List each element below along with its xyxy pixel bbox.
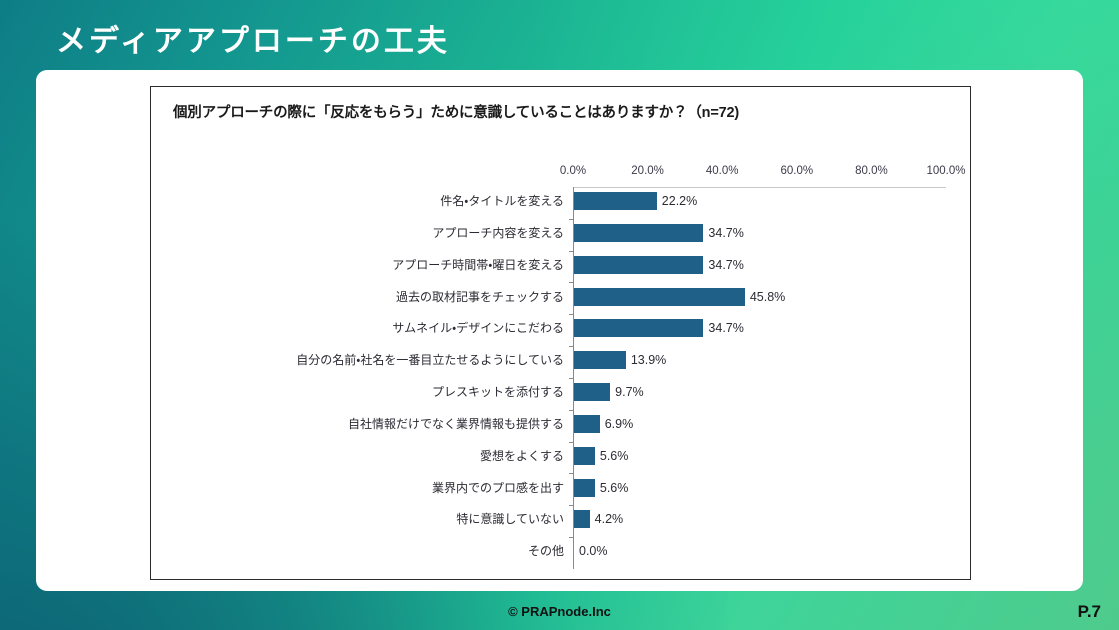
bar-value-label: 45.8% — [750, 288, 785, 306]
x-axis-tick-label: 100.0% — [926, 165, 965, 177]
category-label: 業界内でのプロ感を出す — [432, 478, 564, 498]
bar-row: 過去の取材記事をチェックする45.8% — [573, 283, 946, 315]
x-axis-tick-label: 40.0% — [706, 165, 739, 177]
category-label: アプローチ内容を変える — [432, 223, 564, 243]
category-label: 自社情報だけでなく業界情報も提供する — [348, 414, 564, 434]
bar-value-label: 34.7% — [708, 319, 743, 337]
bar — [574, 351, 626, 369]
bar-row: サムネイル・デザインにこだわる34.7% — [573, 314, 946, 346]
bar-row: その他0.0% — [573, 537, 946, 569]
bar-row: 愛想をよくする5.6% — [573, 442, 946, 474]
bar-row: 特に意識していない4.2% — [573, 505, 946, 537]
chart-container: 個別アプローチの際に「反応をもらう」ために意識していることはありますか？（n=7… — [150, 86, 971, 580]
bar-row: プレスキットを添付する9.7% — [573, 378, 946, 410]
bar — [574, 510, 590, 528]
bar-row: 業界内でのプロ感を出す5.6% — [573, 474, 946, 506]
x-axis-tick-label: 0.0% — [560, 165, 586, 177]
page-title: メディアアプローチの工夫 — [56, 16, 450, 60]
category-label: 自分の名前・社名を一番目立たせるようにしている — [296, 350, 564, 370]
bar — [574, 319, 703, 337]
bar-value-label: 9.7% — [615, 383, 644, 401]
bar — [574, 447, 595, 465]
bar-value-label: 5.6% — [600, 447, 629, 465]
bar-value-label: 13.9% — [631, 351, 666, 369]
category-label: 過去の取材記事をチェックする — [396, 287, 564, 307]
bar-value-label: 5.6% — [600, 479, 629, 497]
bar — [574, 383, 610, 401]
bar-rows: 件名・タイトルを変える22.2%アプローチ内容を変える34.7%アプローチ時間帯… — [573, 187, 946, 569]
bar — [574, 224, 703, 242]
bar-value-label: 0.0% — [579, 542, 608, 560]
bar-row: アプローチ内容を変える34.7% — [573, 219, 946, 251]
bar-value-label: 34.7% — [708, 256, 743, 274]
bar-row: 自社情報だけでなく業界情報も提供する6.9% — [573, 410, 946, 442]
category-label: プレスキットを添付する — [432, 382, 564, 402]
bar-row: 件名・タイトルを変える22.2% — [573, 187, 946, 219]
bar-value-label: 34.7% — [708, 224, 743, 242]
x-axis-tick-label: 60.0% — [780, 165, 813, 177]
content-card: 個別アプローチの際に「反応をもらう」ために意識していることはありますか？（n=7… — [36, 70, 1083, 591]
bar-row: 自分の名前・社名を一番目立たせるようにしている13.9% — [573, 346, 946, 378]
bar-value-label: 22.2% — [662, 192, 697, 210]
bar — [574, 256, 703, 274]
category-label: 愛想をよくする — [480, 446, 564, 466]
category-label: その他 — [528, 541, 564, 561]
bar-row: アプローチ時間帯・曜日を変える34.7% — [573, 251, 946, 283]
slide: メディアアプローチの工夫 個別アプローチの際に「反応をもらう」ために意識している… — [0, 0, 1119, 630]
category-label: サムネイル・デザインにこだわる — [392, 318, 564, 338]
x-axis-tick-label: 80.0% — [855, 165, 888, 177]
category-label: 特に意識していない — [456, 509, 564, 529]
x-axis-tick-label: 20.0% — [631, 165, 664, 177]
copyright-text: © PRAPnode.Inc — [0, 604, 1119, 619]
bar — [574, 479, 595, 497]
x-axis-tick-labels: 0.0%20.0%40.0%60.0%80.0%100.0% — [573, 165, 946, 183]
chart-title: 個別アプローチの際に「反応をもらう」ために意識していることはありますか？（n=7… — [173, 101, 739, 122]
bar-value-label: 4.2% — [595, 510, 624, 528]
page-number: P.7 — [1078, 602, 1101, 622]
bar — [574, 288, 745, 306]
bar-value-label: 6.9% — [605, 415, 634, 433]
bar — [574, 192, 657, 210]
plot-area: 件名・タイトルを変える22.2%アプローチ内容を変える34.7%アプローチ時間帯… — [573, 187, 946, 569]
category-label: アプローチ時間帯・曜日を変える — [392, 255, 564, 275]
category-label: 件名・タイトルを変える — [440, 191, 564, 211]
bar — [574, 415, 600, 433]
